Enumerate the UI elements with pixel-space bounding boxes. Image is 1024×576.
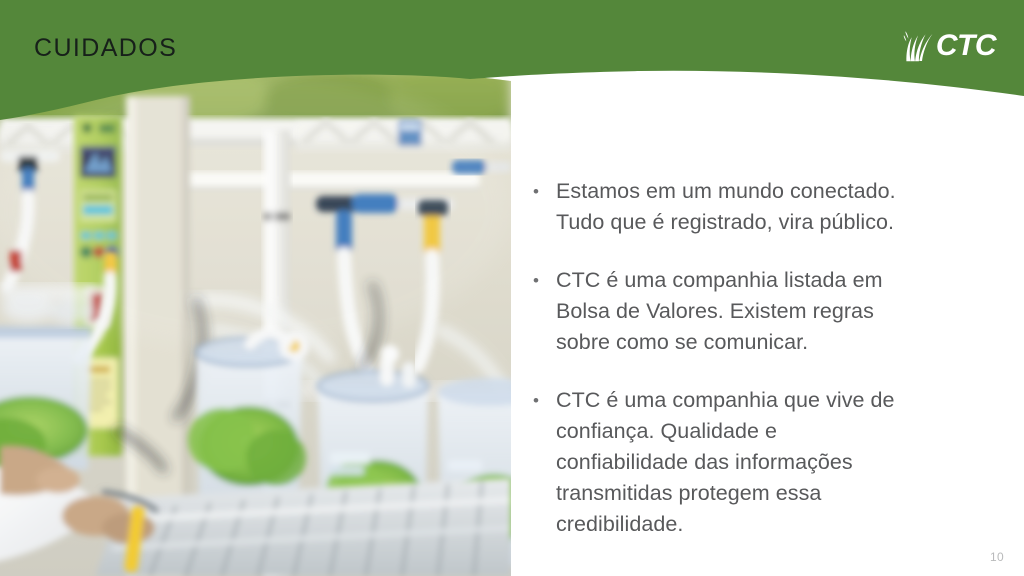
page-number: 10 <box>990 550 1004 564</box>
ctc-logo: CTC <box>903 28 996 64</box>
list-item: • CTC é uma companhia que vive de confia… <box>528 385 998 540</box>
bullet-text: CTC é uma companhia que vive de confianç… <box>556 385 998 540</box>
bullet-marker-icon: • <box>528 385 556 416</box>
page-title: CUIDADOS <box>34 36 177 61</box>
bullet-text: Estamos em um mundo conectado. Tudo que … <box>556 176 998 238</box>
bullet-marker-icon: • <box>528 176 556 207</box>
bullet-text: CTC é uma companhia listada em Bolsa de … <box>556 265 998 358</box>
ctc-wordmark: CTC <box>936 31 996 61</box>
bullet-list: • Estamos em um mundo conectado. Tudo qu… <box>528 176 998 540</box>
bullet-marker-icon: • <box>528 265 556 296</box>
ctc-grass-leaf-mark <box>903 28 933 64</box>
list-item: • CTC é uma companhia listada em Bolsa d… <box>528 265 998 358</box>
presentation-slide: CUIDADOS CTC • Estamos em um mundo conec… <box>0 0 1024 576</box>
list-item: • Estamos em um mundo conectado. Tudo qu… <box>528 176 998 238</box>
